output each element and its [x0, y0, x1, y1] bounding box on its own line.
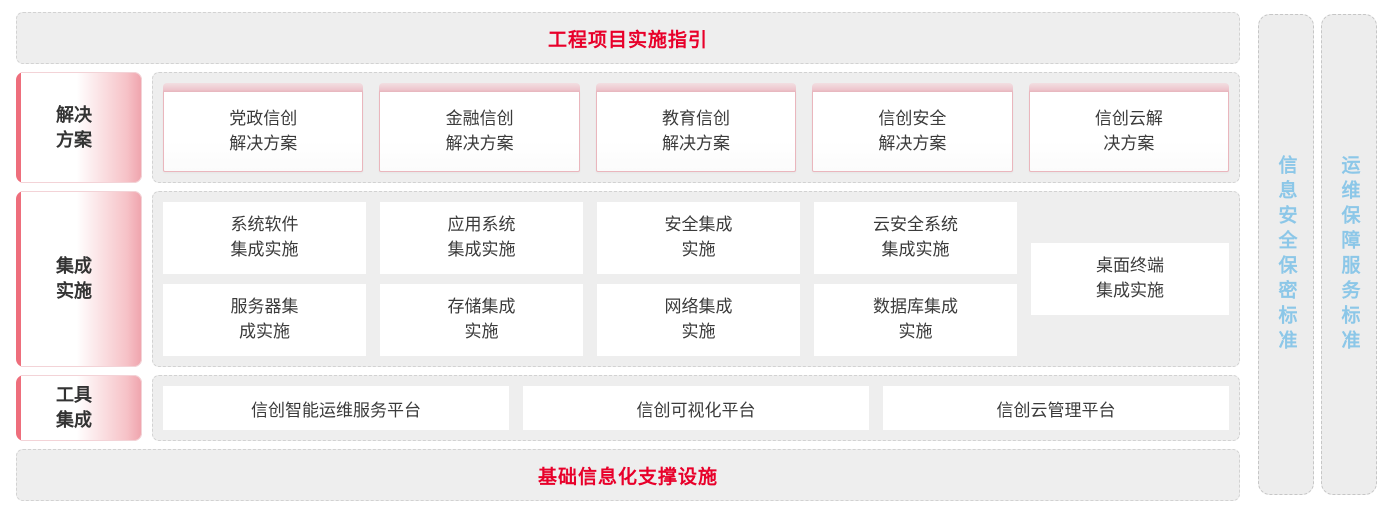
row-tools: 工具 集成 信创智能运维服务平台 信创可视化平台 信创云管理平台	[16, 375, 1240, 441]
integration-left-grid: 系统软件 集成实施 应用系统 集成实施 安全集成 实施 云安全系统 集成实施 服…	[163, 202, 1017, 356]
top-banner: 工程项目实施指引	[16, 12, 1240, 64]
tool-cell[interactable]: 信创云管理平台	[883, 386, 1229, 430]
solution-card[interactable]: 信创安全 解决方案	[812, 90, 1012, 172]
row-body-solutions: 党政信创 解决方案 金融信创 解决方案 教育信创 解决方案 信创安全 解决方案 …	[152, 72, 1240, 183]
integration-cell[interactable]: 系统软件 集成实施	[163, 202, 366, 274]
integration-cell[interactable]: 应用系统 集成实施	[380, 202, 583, 274]
solution-card[interactable]: 金融信创 解决方案	[379, 90, 579, 172]
solution-card[interactable]: 教育信创 解决方案	[596, 90, 796, 172]
row-body-integration: 系统软件 集成实施 应用系统 集成实施 安全集成 实施 云安全系统 集成实施 服…	[152, 191, 1240, 367]
integration-cell[interactable]: 安全集成 实施	[597, 202, 800, 274]
integration-cell[interactable]: 云安全系统 集成实施	[814, 202, 1017, 274]
row-label-integration-text: 集成 实施	[56, 254, 92, 304]
integration-line-2: 服务器集 成实施 存储集成 实施 网络集成 实施 数据库集成 实施	[163, 284, 1017, 356]
side-bar-ops-standard-text: 运维保障服务标准	[1340, 155, 1359, 355]
solutions-grid: 党政信创 解决方案 金融信创 解决方案 教育信创 解决方案 信创安全 解决方案 …	[163, 83, 1229, 172]
integration-line-1: 系统软件 集成实施 应用系统 集成实施 安全集成 实施 云安全系统 集成实施	[163, 202, 1017, 274]
row-solutions: 解决 方案 党政信创 解决方案 金融信创 解决方案 教育信创 解决方案 信创安全…	[16, 72, 1240, 183]
side-bar-ops-standard[interactable]: 运维保障服务标准	[1321, 14, 1377, 495]
row-label-tools-text: 工具 集成	[56, 383, 92, 433]
integration-right-slot: 桌面终端 集成实施	[1031, 202, 1229, 356]
integration-cell-desktop-terminal[interactable]: 桌面终端 集成实施	[1031, 243, 1229, 315]
row-label-solutions[interactable]: 解决 方案	[16, 72, 142, 183]
row-integration: 集成 实施 系统软件 集成实施 应用系统 集成实施 安全集成 实施 云安全系统 …	[16, 191, 1240, 367]
row-body-tools: 信创智能运维服务平台 信创可视化平台 信创云管理平台	[152, 375, 1240, 441]
solution-card[interactable]: 信创云解 决方案	[1029, 90, 1229, 172]
integration-cell[interactable]: 网络集成 实施	[597, 284, 800, 356]
tool-cell[interactable]: 信创可视化平台	[523, 386, 869, 430]
integration-cell[interactable]: 存储集成 实施	[380, 284, 583, 356]
diagram-root: 工程项目实施指引 解决 方案 党政信创 解决方案 金融信创 解决方案 教育信创 …	[0, 0, 1390, 515]
bottom-banner: 基础信息化支撑设施	[16, 449, 1240, 501]
main-column: 工程项目实施指引 解决 方案 党政信创 解决方案 金融信创 解决方案 教育信创 …	[16, 12, 1240, 504]
side-bar-security-standard[interactable]: 信息安全保密标准	[1258, 14, 1314, 495]
row-label-solutions-text: 解决 方案	[56, 103, 92, 153]
row-label-tools[interactable]: 工具 集成	[16, 375, 142, 441]
row-label-integration[interactable]: 集成 实施	[16, 191, 142, 367]
side-bar-security-standard-text: 信息安全保密标准	[1277, 155, 1296, 355]
tools-grid: 信创智能运维服务平台 信创可视化平台 信创云管理平台	[163, 386, 1229, 430]
integration-cell[interactable]: 服务器集 成实施	[163, 284, 366, 356]
solution-card[interactable]: 党政信创 解决方案	[163, 90, 363, 172]
integration-cell[interactable]: 数据库集成 实施	[814, 284, 1017, 356]
integration-wrap: 系统软件 集成实施 应用系统 集成实施 安全集成 实施 云安全系统 集成实施 服…	[163, 202, 1229, 356]
tool-cell[interactable]: 信创智能运维服务平台	[163, 386, 509, 430]
